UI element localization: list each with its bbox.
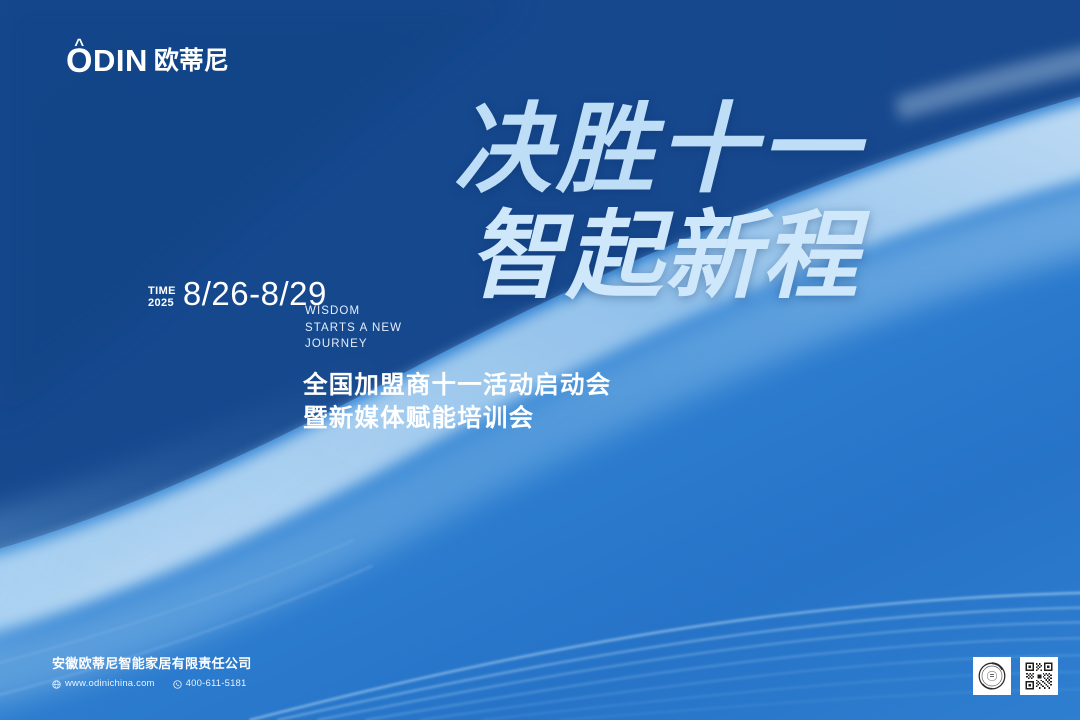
subtitle-line-2: 暨新媒体赋能培训会 [303, 402, 611, 435]
globe-icon [52, 680, 61, 689]
logo-o-mark: ^ O [66, 44, 92, 78]
phone-text: 400-611-5181 [186, 678, 247, 690]
event-poster: ^ O DIN 欧蒂尼 决胜十一 智起新程 TIME 2025 8/26-8/2… [0, 0, 1080, 720]
official-seal-badge[interactable] [973, 657, 1011, 695]
logo-circumflex-icon: ^ [74, 36, 83, 53]
background-wave-graphic [0, 0, 1080, 720]
website-item[interactable]: www.odinichina.com [52, 678, 155, 690]
event-date-block: TIME 2025 8/26-8/29 [148, 276, 327, 311]
qr-code-badge[interactable] [1020, 657, 1058, 695]
contact-row: www.odinichina.com 400-611-5181 [52, 678, 252, 690]
phone-item[interactable]: 400-611-5181 [173, 678, 247, 690]
website-text: www.odinichina.com [65, 678, 155, 690]
phone-icon [173, 680, 182, 689]
tagline-line-2: STARTS A NEW [305, 320, 402, 337]
time-label-top: TIME [148, 285, 176, 297]
tagline-line-1: WISDOM [305, 303, 402, 320]
time-label: TIME 2025 [148, 276, 176, 309]
badge-group [973, 657, 1058, 695]
logo-wordmark: DIN [93, 44, 148, 78]
english-tagline: WISDOM STARTS A NEW JOURNEY [305, 303, 402, 353]
company-name: 安徽欧蒂尼智能家居有限责任公司 [52, 655, 252, 673]
footer-block: 安徽欧蒂尼智能家居有限责任公司 www.odinichina.com 400-6… [52, 655, 252, 690]
brand-logo: ^ O DIN 欧蒂尼 [66, 44, 229, 78]
subtitle-line-1: 全国加盟商十一活动启动会 [303, 369, 611, 402]
event-subtitle: 全国加盟商十一活动启动会 暨新媒体赋能培训会 [303, 369, 611, 435]
logo-chinese-name: 欧蒂尼 [154, 44, 229, 78]
tagline-line-3: JOURNEY [305, 336, 402, 353]
background-art [0, 0, 1080, 720]
time-label-year: 2025 [148, 297, 176, 309]
